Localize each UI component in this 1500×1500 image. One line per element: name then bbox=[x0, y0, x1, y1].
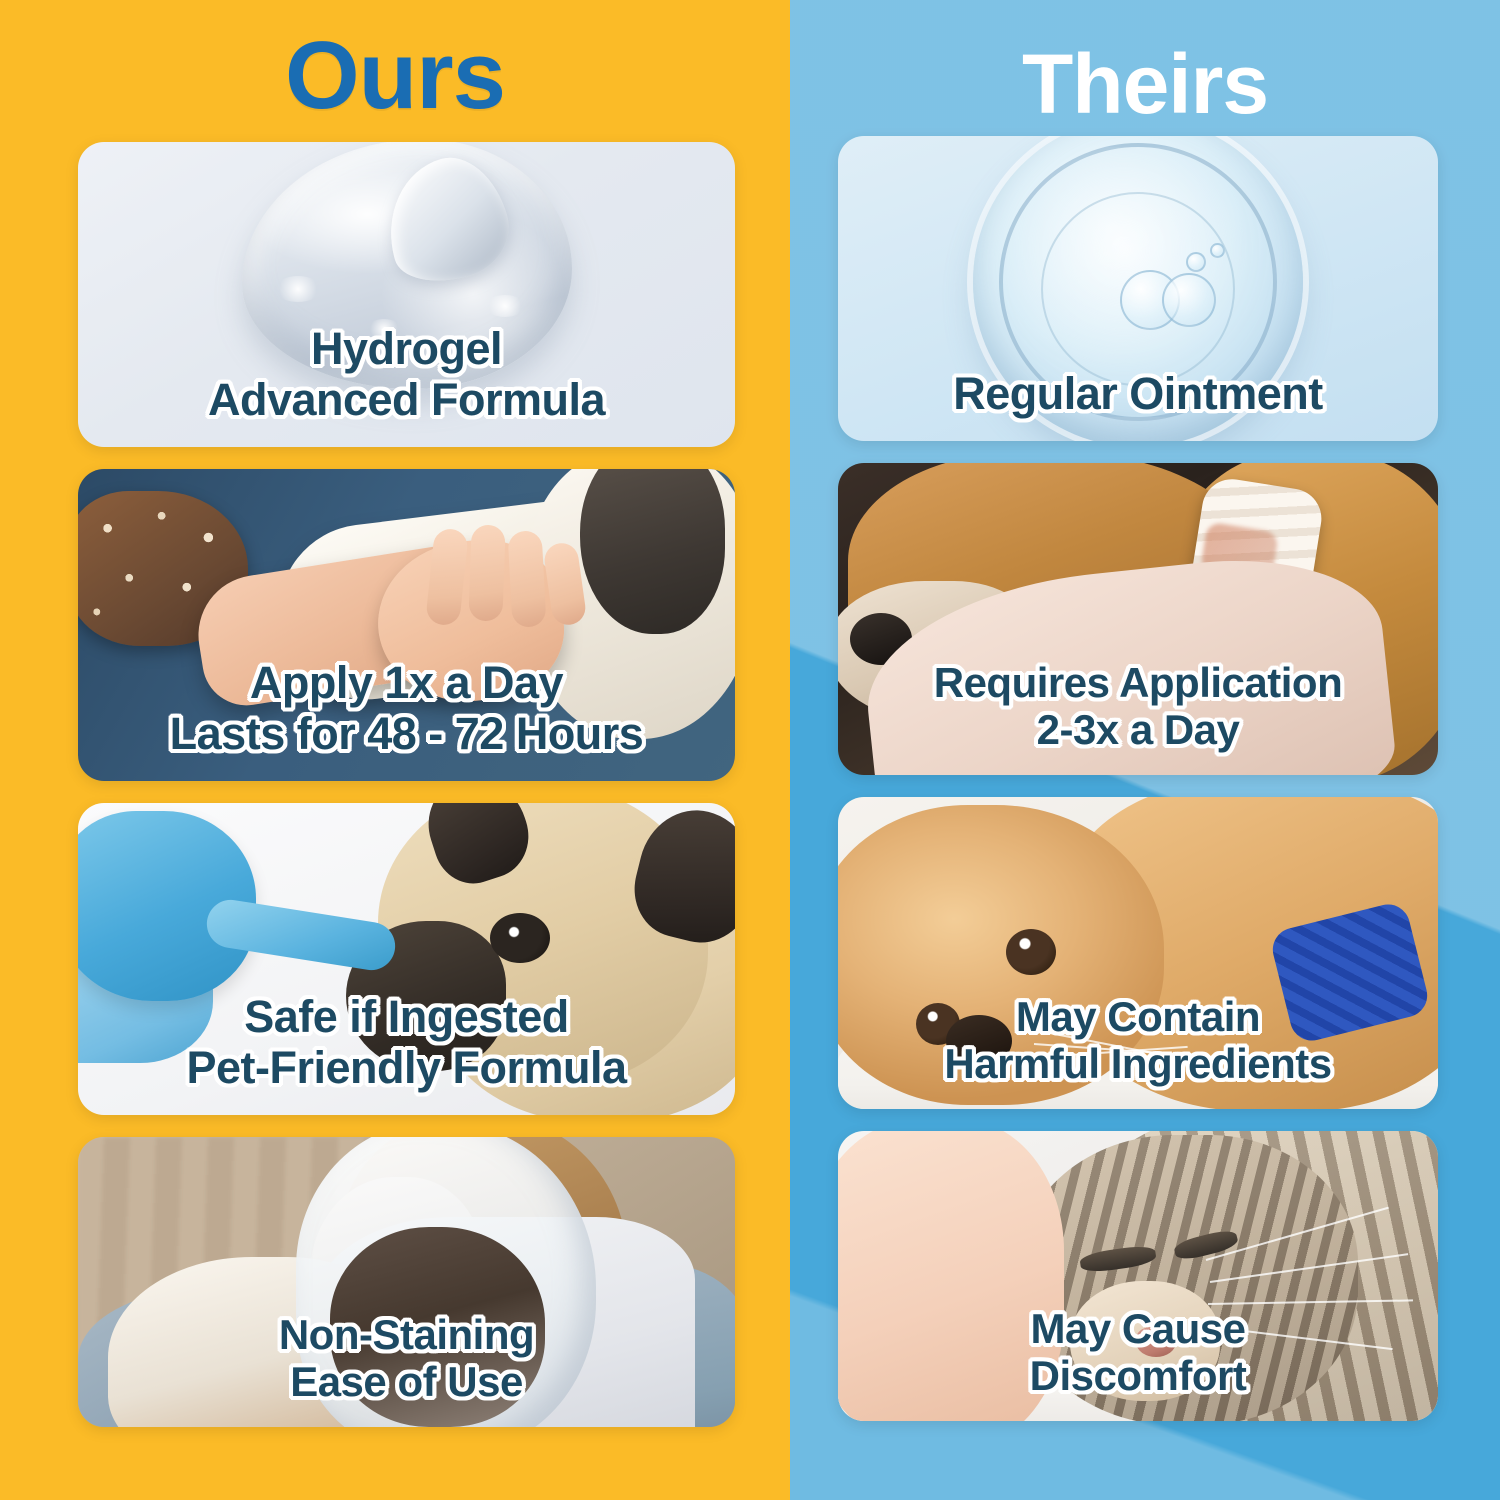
theirs-card-list: Regular Ointment Requires Application 2-… bbox=[838, 136, 1438, 1421]
ours-panel: Ours Hydrogel Advanced Formula bbox=[0, 0, 790, 1500]
card-regular-ointment[interactable]: Regular Ointment bbox=[838, 136, 1438, 441]
card-caption: Regular Ointment bbox=[838, 369, 1438, 419]
caption-line: 2-3x a Day bbox=[852, 706, 1424, 753]
caption-line: May Cause bbox=[852, 1305, 1424, 1352]
card-requires-application[interactable]: Requires Application 2-3x a Day bbox=[838, 463, 1438, 775]
ours-column-title: Ours bbox=[0, 0, 790, 124]
caption-line: Harmful Ingredients bbox=[852, 1040, 1424, 1087]
caption-line: Discomfort bbox=[852, 1352, 1424, 1399]
card-caption: Apply 1x a Day Lasts for 48 - 72 Hours bbox=[78, 658, 735, 759]
comparison-infographic: Ours Hydrogel Advanced Formula bbox=[0, 0, 1500, 1500]
card-safe-if-ingested[interactable]: Safe if Ingested Pet-Friendly Formula bbox=[78, 803, 735, 1115]
card-caption: May Contain Harmful Ingredients bbox=[838, 993, 1438, 1087]
card-caption: Hydrogel Advanced Formula bbox=[78, 324, 735, 425]
caption-line: Apply 1x a Day bbox=[92, 658, 721, 708]
ours-card-list: Hydrogel Advanced Formula bbox=[78, 142, 735, 1427]
card-harmful-ingredients[interactable]: May Contain Harmful Ingredients bbox=[838, 797, 1438, 1109]
caption-line: Safe if Ingested bbox=[92, 992, 721, 1042]
caption-line: Ease of Use bbox=[92, 1358, 721, 1405]
caption-line: May Contain bbox=[852, 993, 1424, 1040]
caption-line: Non-Staining bbox=[92, 1311, 721, 1358]
caption-line: Lasts for 48 - 72 Hours bbox=[92, 709, 721, 759]
card-caption: Non-Staining Ease of Use bbox=[78, 1311, 735, 1405]
card-caption: Requires Application 2-3x a Day bbox=[838, 659, 1438, 753]
card-apply-frequency[interactable]: Apply 1x a Day Lasts for 48 - 72 Hours bbox=[78, 469, 735, 781]
caption-line: Advanced Formula bbox=[92, 375, 721, 425]
theirs-column-title: Theirs bbox=[790, 0, 1500, 126]
caption-line: Pet-Friendly Formula bbox=[92, 1043, 721, 1093]
card-hydrogel[interactable]: Hydrogel Advanced Formula bbox=[78, 142, 735, 447]
card-caption: May Cause Discomfort bbox=[838, 1305, 1438, 1399]
card-non-staining[interactable]: Non-Staining Ease of Use bbox=[78, 1137, 735, 1427]
caption-line: Hydrogel bbox=[92, 324, 721, 374]
caption-line: Requires Application bbox=[852, 659, 1424, 706]
card-caption: Safe if Ingested Pet-Friendly Formula bbox=[78, 992, 735, 1093]
theirs-panel: Theirs Regular Ointment bbox=[790, 0, 1500, 1500]
card-discomfort[interactable]: May Cause Discomfort bbox=[838, 1131, 1438, 1421]
caption-line: Regular Ointment bbox=[852, 369, 1424, 419]
